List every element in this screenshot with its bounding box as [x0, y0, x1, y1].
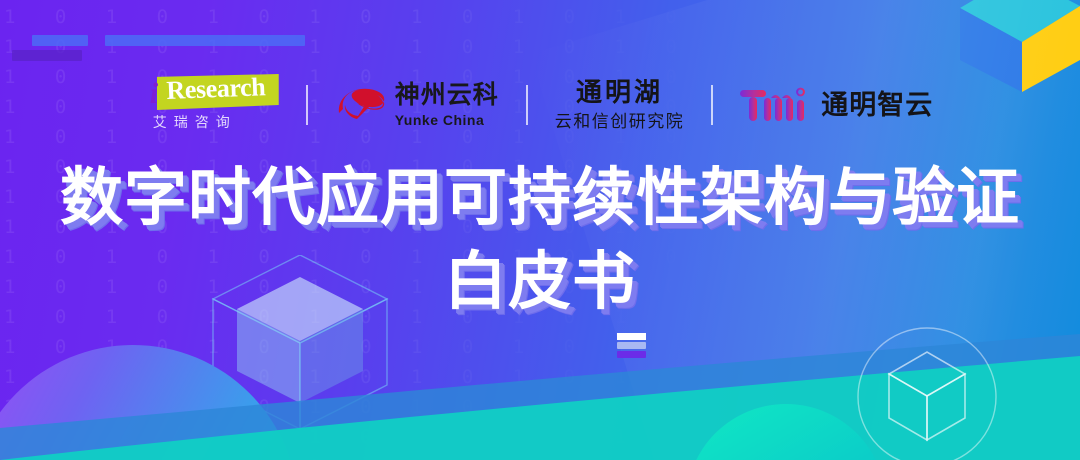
yunke-english-name: Yunke China	[395, 113, 499, 127]
tmi-chinese-name: 通明智云	[821, 92, 933, 119]
logo-yunke-china: 神州云科 Yunke China	[335, 77, 499, 133]
title-line-2: 白皮书	[0, 244, 1080, 320]
logo-iresearch: i Research 艾瑞咨询	[147, 74, 279, 136]
logo-tmi: 通明智云	[740, 80, 933, 130]
tmi-mark-icon	[740, 86, 812, 124]
yunke-chinese-name: 神州云科	[395, 83, 499, 108]
tongminghu-subtitle: 云和信创研究院	[555, 113, 685, 130]
iresearch-chinese-name: 艾瑞咨询	[153, 115, 279, 129]
accent-bar-blue-2	[105, 35, 305, 46]
iresearch-mark: i	[150, 79, 158, 109]
swirl-icon	[335, 83, 387, 127]
logo-separator-2	[526, 85, 528, 125]
tongminghu-chinese-name: 通明湖	[555, 80, 685, 106]
wireframe-cube-in-circle-icon	[856, 326, 998, 460]
title-line-1: 数字时代应用可持续性架构与验证	[0, 160, 1080, 236]
accent-bar-violet-1	[12, 50, 82, 61]
accent-bar-blue-1	[32, 35, 88, 46]
whitepaper-cover: 1 0 1 0 1 0 1 0 1 0 1 0 1 0 1 0 1 0 1 0 …	[0, 0, 1080, 460]
logo-separator-1	[306, 85, 308, 125]
iresearch-wordmark: Research	[166, 74, 266, 104]
accent-bar-purple	[617, 351, 646, 358]
logo-tongminghu: 通明湖 云和信创研究院	[555, 80, 685, 130]
cover-title: 数字时代应用可持续性架构与验证 白皮书	[0, 160, 1080, 320]
accent-bar-white	[617, 333, 646, 340]
accent-bar-lavender	[617, 342, 646, 349]
partner-logo-row: i Research 艾瑞咨询 神州云科 Yunke China 通明湖 云和信…	[0, 74, 1080, 136]
logo-separator-3	[711, 85, 713, 125]
